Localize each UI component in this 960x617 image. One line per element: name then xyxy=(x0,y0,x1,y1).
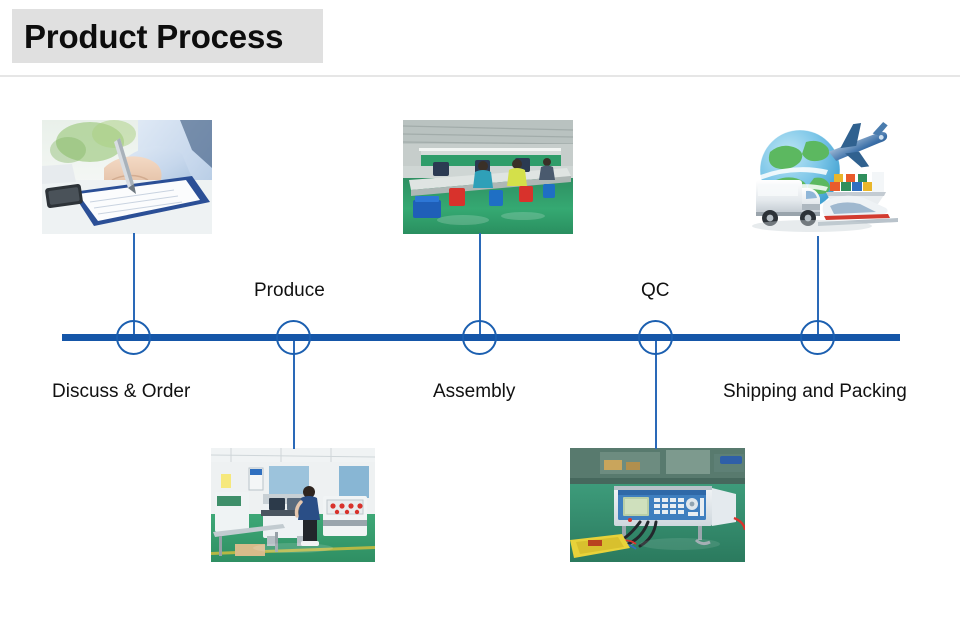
timeline-node-produce[interactable] xyxy=(276,320,311,355)
timeline-node-assembly[interactable] xyxy=(462,320,497,355)
stage-label-produce: Produce xyxy=(254,281,325,300)
page-title: Product Process xyxy=(12,20,283,53)
production-floor-photo xyxy=(211,448,375,562)
stage-label-shipping-packing: Shipping and Packing xyxy=(723,382,907,401)
assembly-line-photo xyxy=(403,120,573,234)
stage-label-discuss-order: Discuss & Order xyxy=(52,382,190,401)
timeline-node-discuss-order[interactable] xyxy=(116,320,151,355)
qc-test-equipment-photo xyxy=(570,448,745,562)
contract-signing-photo xyxy=(42,120,212,234)
stage-label-qc: QC xyxy=(641,281,670,300)
stage-label-assembly: Assembly xyxy=(433,382,515,401)
timeline-node-shipping[interactable] xyxy=(800,320,835,355)
logistics-globe-photo xyxy=(740,118,900,237)
timeline-node-qc[interactable] xyxy=(638,320,673,355)
slide-canvas: Product Process xyxy=(0,0,960,617)
page-title-box: Product Process xyxy=(12,9,323,63)
header-divider xyxy=(0,75,960,77)
